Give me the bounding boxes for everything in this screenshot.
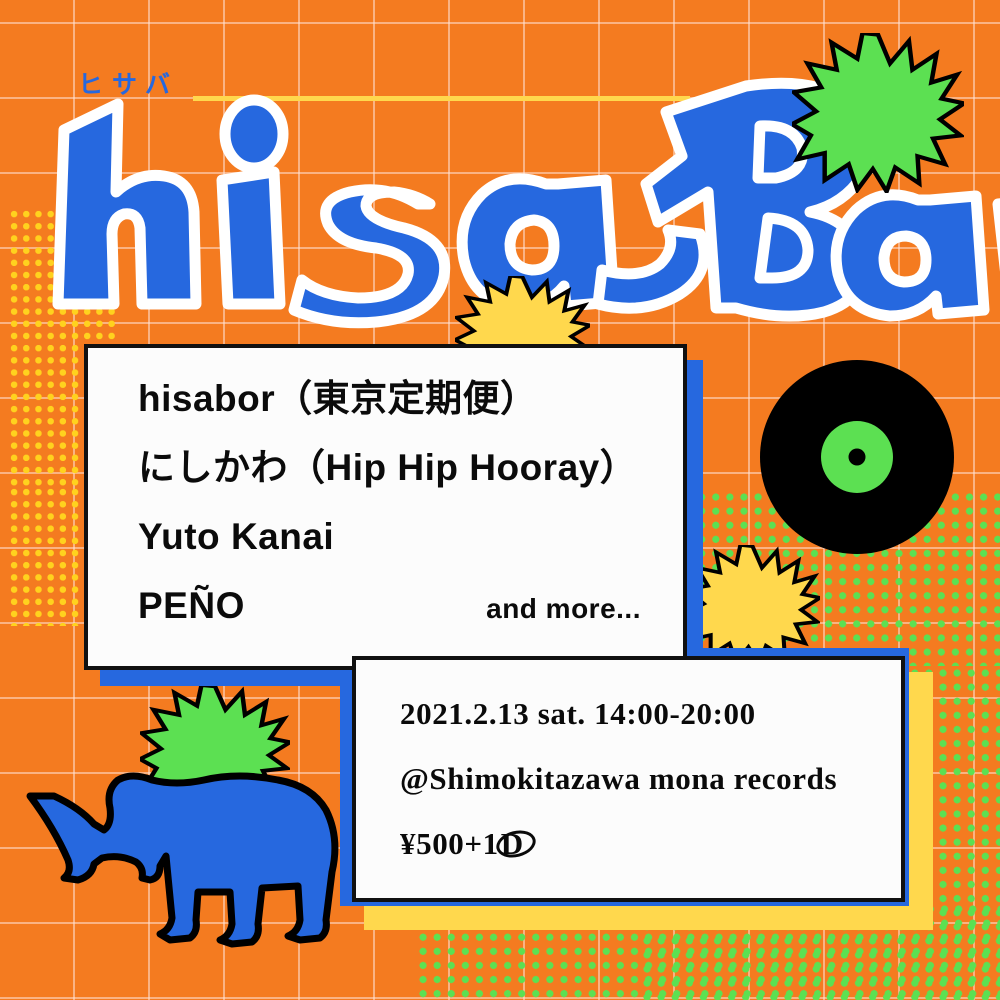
list-item: にしかわ（Hip Hip Hooray） — [138, 449, 683, 486]
starburst-icon-green-top — [792, 33, 964, 193]
event-flyer: ヒサバ — [0, 0, 1000, 1000]
event-datetime: 2021.2.13 sat. 14:00-20:00 — [400, 698, 901, 729]
details-panel: 2021.2.13 sat. 14:00-20:00 @Shimokitazaw… — [352, 656, 905, 902]
list-item: Yuto Kanai — [138, 518, 683, 555]
list-item: PEÑO and more... — [138, 587, 683, 624]
event-price-drink-token: D — [499, 828, 526, 859]
rhino-silhouette-icon — [20, 768, 350, 968]
event-price-amount: ¥500+1 — [400, 826, 499, 861]
event-price: ¥500+1D — [400, 828, 901, 859]
and-more-label: and more... — [486, 595, 641, 623]
starburst-icon-yellow-side — [685, 545, 820, 665]
list-item: hisabor（東京定期便） — [138, 380, 683, 417]
lineup-panel: hisabor（東京定期便） にしかわ（Hip Hip Hooray） Yuto… — [84, 344, 687, 670]
vinyl-record-icon — [760, 360, 954, 554]
event-venue: @Shimokitazawa mona records — [400, 763, 901, 794]
lineup-list: hisabor（東京定期便） にしかわ（Hip Hip Hooray） Yuto… — [88, 348, 683, 624]
list-item-label: PEÑO — [138, 587, 245, 624]
vinyl-center-hole — [849, 449, 866, 466]
details-list: 2021.2.13 sat. 14:00-20:00 @Shimokitazaw… — [356, 660, 901, 859]
